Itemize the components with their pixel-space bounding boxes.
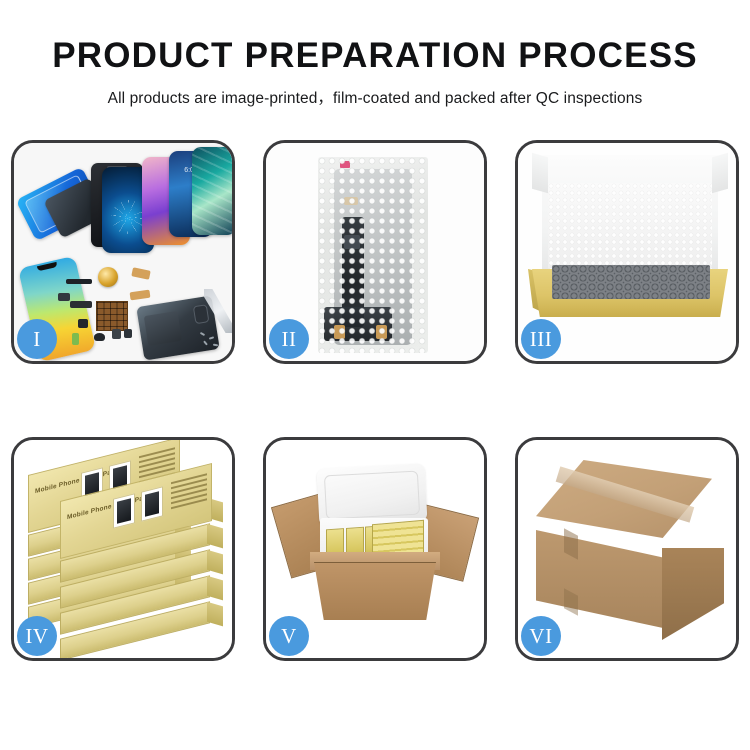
step-badge-5: V xyxy=(269,616,309,656)
pink-label-tab-icon xyxy=(340,161,350,168)
carton-right-face xyxy=(662,548,724,640)
box-stack: Mobile Phone Spare Parts Mobile Phone Sp… xyxy=(20,450,226,650)
process-step-3: III xyxy=(515,140,739,364)
process-step-2: II xyxy=(263,140,487,364)
bubble-wrapped-contents-icon xyxy=(552,265,710,299)
chip-array-icon xyxy=(96,301,128,331)
process-step-1: 6:08 xyxy=(11,140,235,364)
process-step-6: VI xyxy=(515,437,739,661)
box-label-text: Mobile Phone Spare Parts xyxy=(67,493,152,521)
product-preparation-infographic: PRODUCT PREPARATION PROCESS All products… xyxy=(0,0,750,750)
phone-back-cover-icon xyxy=(136,295,220,360)
small-component-icon xyxy=(94,333,105,341)
lcd-flex-cable-icon xyxy=(342,217,364,327)
lcd-bottom-board-icon xyxy=(324,307,392,341)
beige-tab-icon xyxy=(344,197,358,205)
process-step-5: V xyxy=(263,437,487,661)
small-component-icon xyxy=(72,333,79,345)
small-component-icon xyxy=(112,329,121,339)
sealed-carton-icon xyxy=(536,460,724,640)
page-title: PRODUCT PREPARATION PROCESS xyxy=(0,0,750,73)
header: PRODUCT PREPARATION PROCESS All products… xyxy=(0,0,750,108)
step-badge-6: VI xyxy=(521,616,561,656)
step-badge-4: IV xyxy=(17,616,57,656)
carton-left-face xyxy=(536,530,663,628)
earpiece-bar-icon xyxy=(66,279,92,284)
box-product-photo xyxy=(141,486,163,521)
bubble-wrap-bag-icon xyxy=(318,157,428,353)
small-component-icon xyxy=(78,319,88,328)
carton-front-icon xyxy=(314,562,436,620)
speaker-module-icon xyxy=(98,267,118,287)
process-step-4: Mobile Phone Spare Parts Mobile Phone Sp… xyxy=(11,437,235,661)
teal-swirl-phone-icon xyxy=(192,147,232,235)
flex-cable-icon xyxy=(70,301,92,308)
step-badge-3: III xyxy=(521,319,561,359)
step-badge-1: I xyxy=(17,319,57,359)
process-step-grid: 6:08 xyxy=(11,140,739,685)
lcd-screen-icon xyxy=(334,169,412,345)
small-component-icon xyxy=(124,329,132,338)
connector-icon xyxy=(334,325,345,339)
connector-icon xyxy=(376,325,387,339)
white-foam-sheet-icon xyxy=(548,183,712,269)
flex-cable-icon xyxy=(130,290,151,301)
small-component-icon xyxy=(58,293,70,301)
screws-icon xyxy=(200,333,222,347)
box-product-photo xyxy=(113,493,135,528)
page-subtitle: All products are image-printed，film-coat… xyxy=(0,73,750,108)
step-badge-2: II xyxy=(269,319,309,359)
box-spec-lines xyxy=(171,473,207,516)
flex-cable-icon xyxy=(131,267,150,280)
